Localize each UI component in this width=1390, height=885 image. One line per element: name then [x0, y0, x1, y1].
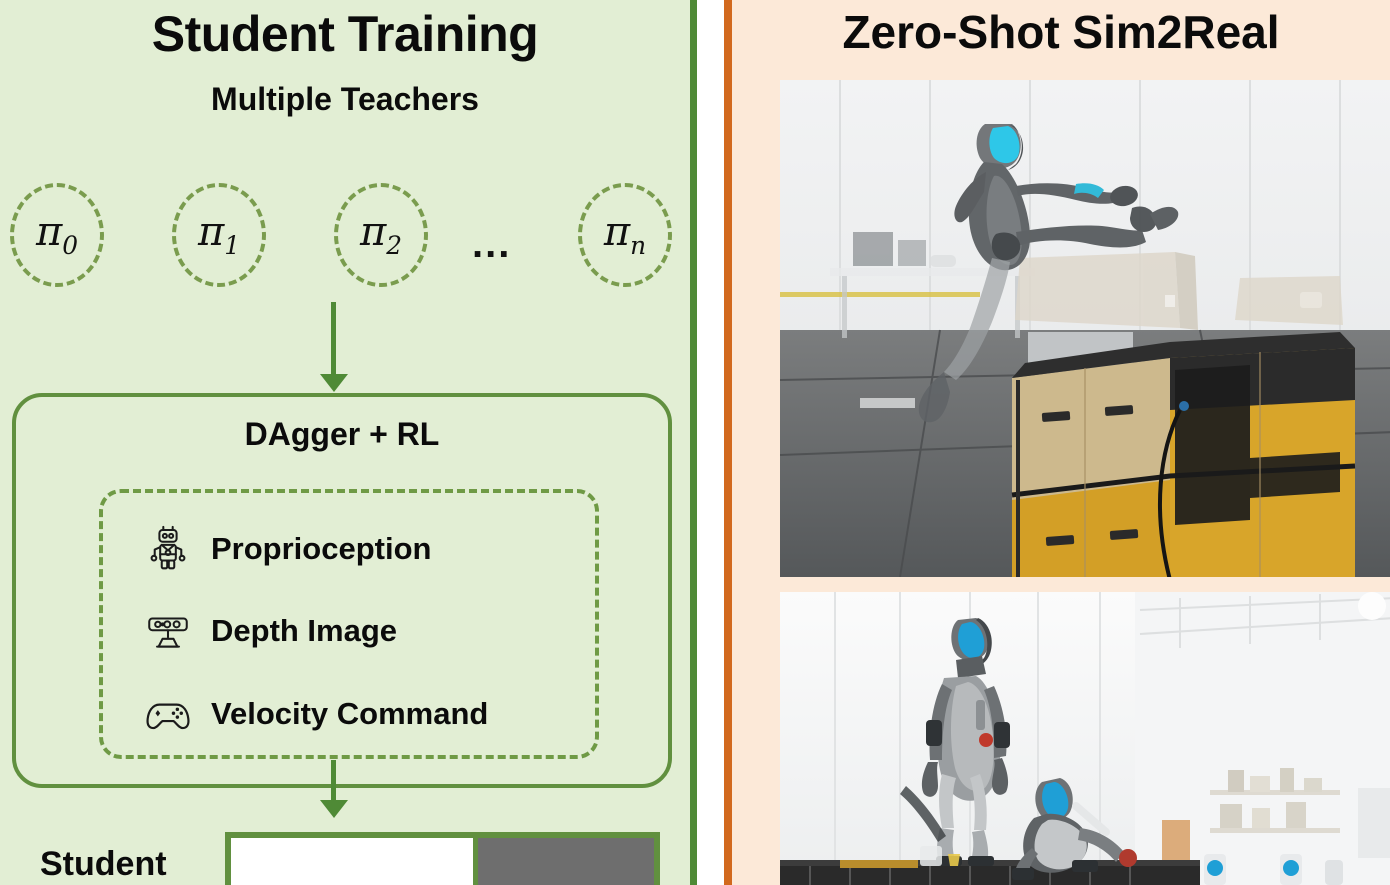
- depth-camera-icon: [141, 604, 195, 658]
- student-label: Student: [40, 847, 167, 881]
- modality-depth-image: Depth Image: [103, 595, 595, 667]
- input-modalities-box: Proprioception Depth Image: [99, 489, 599, 759]
- teacher-policy-pi-n: πn: [578, 183, 672, 287]
- right-page-title: Zero-Shot Sim2Real: [732, 0, 1390, 59]
- multiple-teachers-heading: Multiple Teachers: [0, 64, 690, 117]
- pi-2-label: π2: [360, 212, 402, 259]
- modality-proprioception: Proprioception: [103, 512, 595, 584]
- teacher-policies-row: π0 π1 π2 ... πn: [0, 180, 690, 290]
- modality-velocity-command: Velocity Command: [103, 678, 595, 750]
- right-panel-inner: Zero-Shot Sim2Real: [724, 0, 1390, 885]
- gamepad-icon: [141, 687, 195, 741]
- dagger-rl-title: DAgger + RL: [16, 397, 668, 452]
- robot-jumping-over-box-photo: [780, 80, 1390, 577]
- teacher-policy-pi-0: π0: [10, 183, 104, 287]
- modality-label: Depth Image: [211, 615, 397, 646]
- page-title: Student Training: [0, 0, 690, 64]
- student-box-white-half: [231, 838, 473, 885]
- student-box-gray-half: [473, 838, 654, 885]
- teacher-policy-pi-1: π1: [172, 183, 266, 287]
- modality-label: Velocity Command: [211, 698, 488, 729]
- two-robots-on-platform-photo: [780, 592, 1390, 885]
- ellipsis-label: ...: [472, 224, 511, 264]
- arrow-down-to-dagger-icon: [331, 302, 336, 376]
- zero-shot-sim2real-panel: Zero-Shot Sim2Real: [697, 0, 1390, 885]
- student-row: Student: [0, 825, 690, 885]
- modality-label: Proprioception: [211, 533, 431, 564]
- dagger-rl-box: DAgger + RL: [12, 393, 672, 788]
- robot-icon: [141, 521, 195, 575]
- teacher-policy-pi-2: π2: [334, 183, 428, 287]
- arrow-down-to-student-icon: [331, 760, 336, 802]
- student-training-panel: Student Training Multiple Teachers π0 π1…: [0, 0, 697, 885]
- pi-n-label: πn: [604, 212, 646, 259]
- pi-1-label: π1: [198, 212, 240, 259]
- pi-0-label: π0: [36, 212, 78, 259]
- student-policy-box: [225, 832, 660, 885]
